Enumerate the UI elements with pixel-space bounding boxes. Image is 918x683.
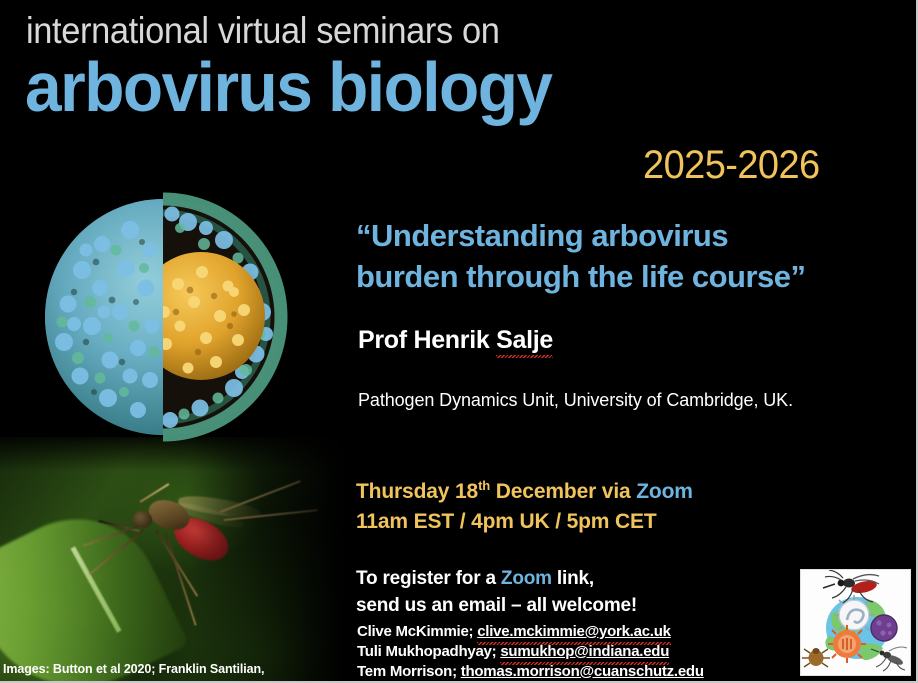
talk-title-line-1: “Understanding arbovirus	[356, 216, 916, 257]
logo-mosquito-bottom	[871, 647, 907, 671]
schedule-times: 11am EST / 4pm UK / 5pm CET	[356, 507, 693, 537]
register-text-b: link,	[552, 568, 594, 589]
image-credits: Images: Button et al 2020; Franklin Sant…	[3, 662, 264, 676]
schedule-platform: Zoom	[636, 480, 693, 503]
photo-top-fade	[0, 437, 345, 683]
contact-row: Tuli Mukhopadhyay; sumukhop@indiana.edu	[357, 642, 704, 662]
contact-row: Tem Morrison; thomas.morrison@cuanschutz…	[357, 662, 704, 682]
contact-email-link[interactable]: clive.mckimmie@york.ac.uk	[477, 622, 671, 642]
contact-name: Tuli Mukhopadhyay;	[357, 643, 500, 660]
series-years: 2025-2026	[643, 145, 820, 185]
series-title: arbovirus biology	[25, 52, 552, 122]
schedule-month: December via	[490, 480, 636, 503]
contact-email-link[interactable]: sumukhop@indiana.edu	[500, 642, 669, 662]
logo-tick	[802, 648, 830, 667]
register-line-1: To register for a Zoom link,	[356, 565, 637, 592]
contact-name: Tem Morrison;	[357, 663, 461, 680]
contact-list: Clive McKimmie; clive.mckimmie@york.ac.u…	[357, 622, 704, 681]
seminar-series-logo	[800, 569, 911, 676]
schedule-date-line: Thursday 18th December via Zoom	[356, 477, 693, 507]
virus-particle-icon	[38, 192, 288, 442]
contact-name: Clive McKimmie;	[357, 623, 477, 640]
talk-title-line-2: burden through the life course”	[356, 257, 916, 298]
register-platform: Zoom	[501, 568, 552, 589]
seminar-poster: Images: Button et al 2020; Franklin Sant…	[0, 0, 918, 683]
speaker-affiliation: Pathogen Dynamics Unit, University of Ca…	[358, 390, 793, 411]
register-line-2: send us an email – all welcome!	[356, 592, 637, 619]
series-subtitle: international virtual seminars on	[26, 12, 500, 49]
register-block: To register for a Zoom link, send us an …	[356, 565, 637, 619]
schedule-block: Thursday 18th December via Zoom 11am EST…	[356, 477, 693, 537]
schedule-day: Thursday 18	[356, 480, 478, 503]
register-text-a: To register for a	[356, 568, 501, 589]
contact-row: Clive McKimmie; clive.mckimmie@york.ac.u…	[357, 622, 704, 642]
speaker-surname-spellcheck: Salje	[496, 326, 553, 355]
schedule-ordinal: th	[478, 478, 490, 493]
speaker-name: Prof Henrik Salje	[358, 326, 553, 355]
speaker-name-prefix: Prof Henrik	[358, 326, 496, 354]
contact-email-link[interactable]: thomas.morrison@cuanschutz.edu	[461, 662, 704, 682]
talk-title: “Understanding arbovirus burden through …	[356, 216, 916, 298]
mosquito-photo	[0, 437, 345, 683]
